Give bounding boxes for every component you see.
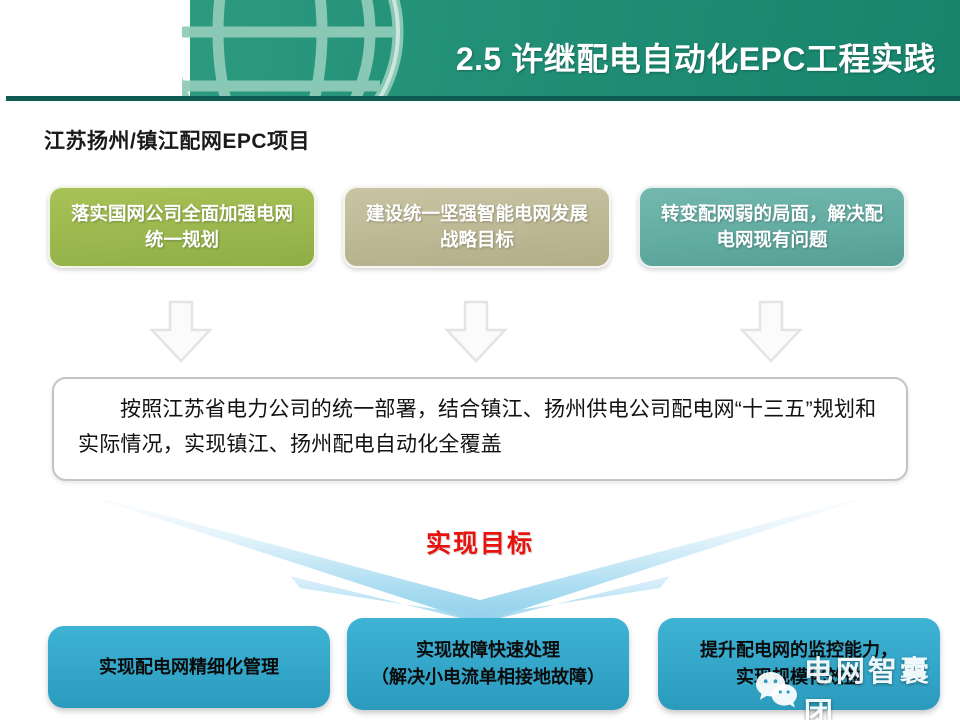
outcome-box-2-text: 实现故障快速处理 （解决小电流单相接地故障） [371,637,605,691]
outcome-box-1: 实现配电网精细化管理 [48,626,330,708]
globe-grid-icon [120,0,420,96]
goal-banner-label: 实现目标 [0,524,960,560]
outcome-box-3-text: 提升配电网的监控能力， 实现规模化效益 [700,637,898,691]
outcome-box-3-line2: 实现规模化效益 [700,664,898,691]
outcome-box-3-line1: 提升配电网的监控能力， [700,637,898,664]
outcome-box-2: 实现故障快速处理 （解决小电流单相接地故障） [347,618,629,710]
slide-header: 2.5 许继配电自动化EPC工程实践 [0,0,960,96]
slide-canvas: 2.5 许继配电自动化EPC工程实践 江苏扬州/镇江配网EPC项目 落实国网公司… [0,0,960,720]
arrow-down-icon [443,300,509,364]
section-subtitle: 江苏扬州/镇江配网EPC项目 [44,125,310,155]
outcome-box-1-text: 实现配电网精细化管理 [99,654,279,681]
header-divider [6,96,960,101]
objective-box-3: 转变配网弱的局面，解决配电网现有问题 [638,186,906,268]
page-title: 2.5 许继配电自动化EPC工程实践 [456,34,936,80]
outcome-box-2-line2: （解决小电流单相接地故障） [371,664,605,691]
outcome-box-1-line1: 实现配电网精细化管理 [99,654,279,681]
arrow-down-icon [148,300,214,364]
arrow-down-icon [738,300,804,364]
summary-panel-text: 按照江苏省电力公司的统一部署，结合镇江、扬州供电公司配电网“十三五”规划和实际情… [78,393,882,462]
objective-box-2: 建设统一坚强智能电网发展战略目标 [343,186,611,268]
summary-panel: 按照江苏省电力公司的统一部署，结合镇江、扬州供电公司配电网“十三五”规划和实际情… [52,377,908,481]
objective-box-1: 落实国网公司全面加强电网统一规划 [48,186,316,268]
outcome-box-2-line1: 实现故障快速处理 [371,637,605,664]
outcome-box-3: 提升配电网的监控能力， 实现规模化效益 [658,618,940,710]
